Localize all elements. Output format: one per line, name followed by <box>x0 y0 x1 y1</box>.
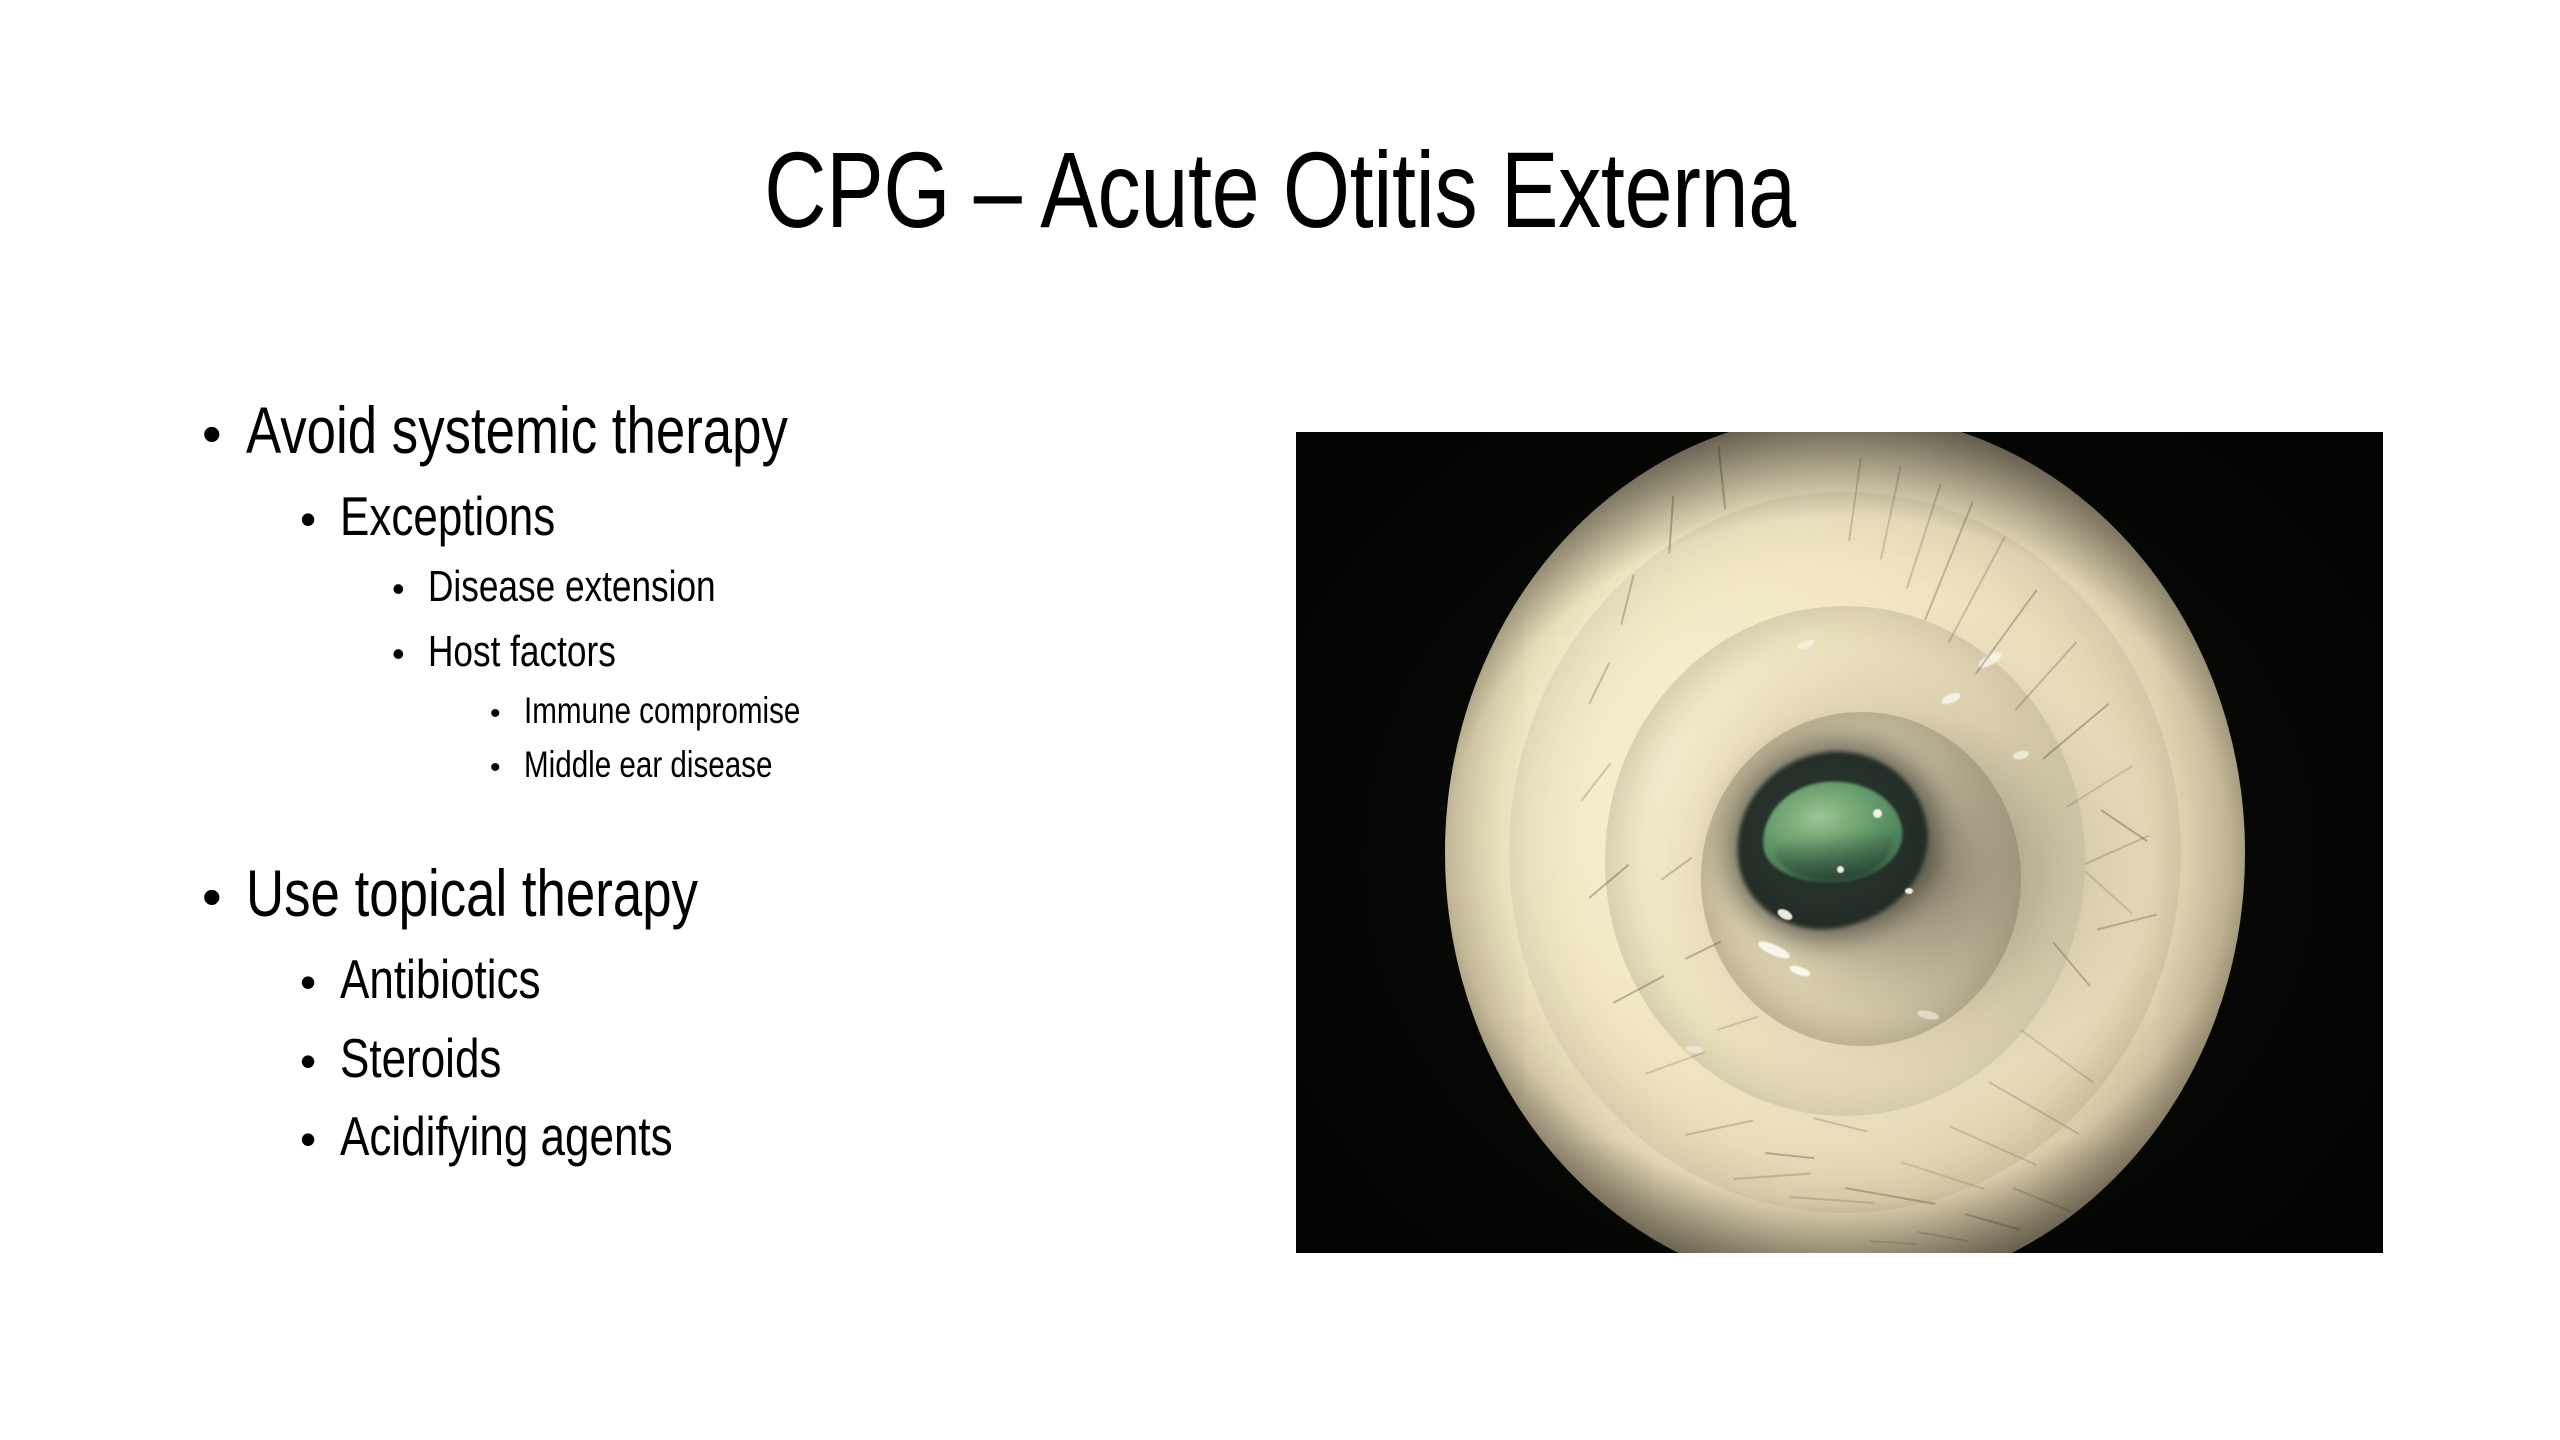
bullet-marker-icon: • <box>300 955 340 1009</box>
canal-hair <box>2042 703 2109 760</box>
specular-highlight <box>2012 749 2029 761</box>
canal-hair <box>1612 975 1664 1004</box>
specular-highlight <box>1796 639 1815 651</box>
canal-hair <box>1948 1125 2036 1166</box>
canal-hair <box>1975 589 2037 674</box>
canal-hair <box>1620 574 1634 625</box>
bullet-marker-icon: • <box>392 568 428 610</box>
canal-hair <box>2052 941 2091 986</box>
canal-hair <box>2012 1187 2072 1212</box>
bullet-marker-icon: • <box>490 751 524 785</box>
specular-highlight <box>1788 963 1811 978</box>
list-item-label: Disease extension <box>428 558 716 617</box>
specular-highlight <box>1940 691 1962 707</box>
ear-canal <box>1445 432 2245 1253</box>
canal-hair <box>1906 483 1942 588</box>
canal-hair <box>1717 446 1725 510</box>
list-item: • Use topical therapy <box>180 851 1240 937</box>
list-item-label: Middle ear disease <box>524 740 772 790</box>
list-item-label: Exceptions <box>340 480 555 553</box>
list-item-label: Immune compromise <box>524 686 800 736</box>
page-title: CPG – Acute Otitis Externa <box>256 130 2304 251</box>
bullet-marker-icon: • <box>392 633 428 675</box>
slide-canvas: CPG – Acute Otitis Externa • Avoid syste… <box>0 0 2560 1440</box>
specular-highlight <box>1756 938 1791 961</box>
list-item-label: Acidifying agents <box>340 1100 673 1173</box>
canal-hair <box>1868 1240 1916 1245</box>
list-item: • Middle ear disease <box>180 740 1240 790</box>
list-item: • Disease extension <box>180 558 1240 617</box>
list-item-label: Host factors <box>428 623 616 682</box>
list-item: • Acidifying agents <box>180 1100 1240 1173</box>
canal-hair <box>1684 1120 1753 1136</box>
canal-hair <box>1988 1081 2079 1134</box>
bullet-list: • Avoid systemic therapy • Exceptions • … <box>180 388 1240 1173</box>
list-item-label: Avoid systemic therapy <box>246 388 788 474</box>
list-item: • Steroids <box>180 1022 1240 1095</box>
list-item-label: Antibiotics <box>340 943 541 1016</box>
canal-hair <box>1924 501 1973 620</box>
bullet-marker-icon: • <box>202 864 246 929</box>
canal-hair <box>2084 835 2149 865</box>
list-item: • Exceptions <box>180 480 1240 553</box>
canal-hair <box>1848 457 1861 540</box>
canal-hair <box>2100 809 2147 842</box>
specular-highlight <box>1905 888 1913 894</box>
canal-hair <box>2084 870 2133 914</box>
canal-hair <box>1964 1213 2020 1231</box>
list-item: • Antibiotics <box>180 943 1240 1016</box>
canal-hair <box>2096 914 2157 931</box>
bullet-marker-icon: • <box>300 492 340 546</box>
canal-hair <box>1588 662 1610 704</box>
canal-hair <box>2020 1029 2094 1083</box>
canal-hair <box>2014 642 2077 711</box>
canal-hair <box>1764 1152 1814 1159</box>
specular-highlight <box>1837 866 1844 873</box>
bullet-marker-icon: • <box>490 697 524 731</box>
canal-hair <box>1900 1161 1984 1190</box>
canal-hair <box>1588 863 1629 898</box>
specular-highlight <box>1873 809 1882 818</box>
canal-hair <box>1660 857 1692 881</box>
canal-hair <box>1947 536 2005 643</box>
list-item: • Immune compromise <box>180 686 1240 736</box>
canal-hair <box>2066 765 2133 808</box>
canal-hair <box>1788 1196 1874 1204</box>
canal-hair <box>1880 466 1902 560</box>
canal-hair <box>1580 762 1611 801</box>
list-item: • Avoid systemic therapy <box>180 388 1240 474</box>
canal-hair <box>1716 1015 1758 1030</box>
canal-hair <box>1644 1051 1705 1074</box>
bullet-marker-icon: • <box>300 1034 340 1088</box>
list-item: • Host factors <box>180 623 1240 682</box>
canal-hair <box>1668 496 1674 554</box>
canal-hair <box>1732 1173 1810 1180</box>
otoscopy-image <box>1296 432 2383 1253</box>
bullet-marker-icon: • <box>300 1112 340 1166</box>
canal-hair <box>1684 941 1721 960</box>
canal-hair <box>1812 1117 1867 1132</box>
canal-hair <box>1916 1231 1967 1242</box>
specular-highlight <box>1916 1009 1939 1021</box>
list-item-label: Use topical therapy <box>246 851 698 937</box>
list-item-label: Steroids <box>340 1022 501 1095</box>
bullet-marker-icon: • <box>202 401 246 466</box>
